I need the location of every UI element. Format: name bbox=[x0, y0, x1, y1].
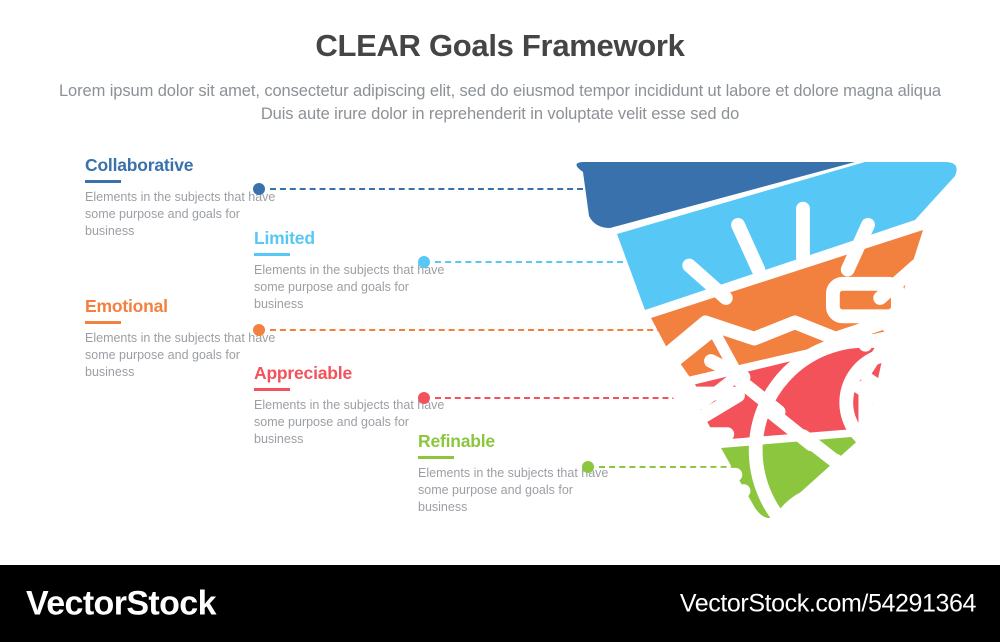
page-title: CLEAR Goals Framework bbox=[0, 28, 1000, 64]
connector-dot-limited bbox=[418, 256, 430, 268]
footer-bar: VectorStock VectorStock.com/54291364 bbox=[0, 565, 1000, 642]
infographic-canvas: CLEAR Goals Framework Lorem ipsum dolor … bbox=[0, 0, 1000, 642]
connector-collaborative bbox=[253, 183, 583, 195]
step-block-collaborative: Collaborative Elements in the subjects t… bbox=[85, 155, 285, 240]
stopwatch-icon bbox=[631, 231, 677, 277]
step-underline-emotional bbox=[85, 321, 121, 324]
page-subtitle: Lorem ipsum dolor sit amet, consectetur … bbox=[50, 80, 950, 126]
handshake-icon bbox=[593, 168, 639, 214]
connector-dot-collaborative bbox=[253, 183, 265, 195]
step-title-limited: Limited bbox=[254, 228, 454, 248]
connector-dot-emotional bbox=[253, 324, 265, 336]
step-underline-refinable bbox=[418, 456, 454, 459]
step-underline-appreciable bbox=[254, 388, 290, 391]
connector-dot-appreciable bbox=[418, 392, 430, 404]
step-title-appreciable: Appreciable bbox=[254, 363, 454, 383]
step-title-emotional: Emotional bbox=[85, 296, 285, 316]
step-underline-collaborative bbox=[85, 180, 121, 183]
person-heart-icon bbox=[685, 305, 731, 351]
connector-line-collaborative bbox=[270, 188, 583, 190]
vectorstock-url: VectorStock.com/54291364 bbox=[680, 589, 976, 618]
step-underline-limited bbox=[254, 253, 290, 256]
funnel-diagram bbox=[555, 150, 975, 540]
vectorstock-logo: VectorStock bbox=[26, 584, 216, 623]
step-title-collaborative: Collaborative bbox=[85, 155, 285, 175]
thumbs-up-icon bbox=[723, 370, 769, 416]
settings-hand-icon bbox=[754, 437, 800, 483]
